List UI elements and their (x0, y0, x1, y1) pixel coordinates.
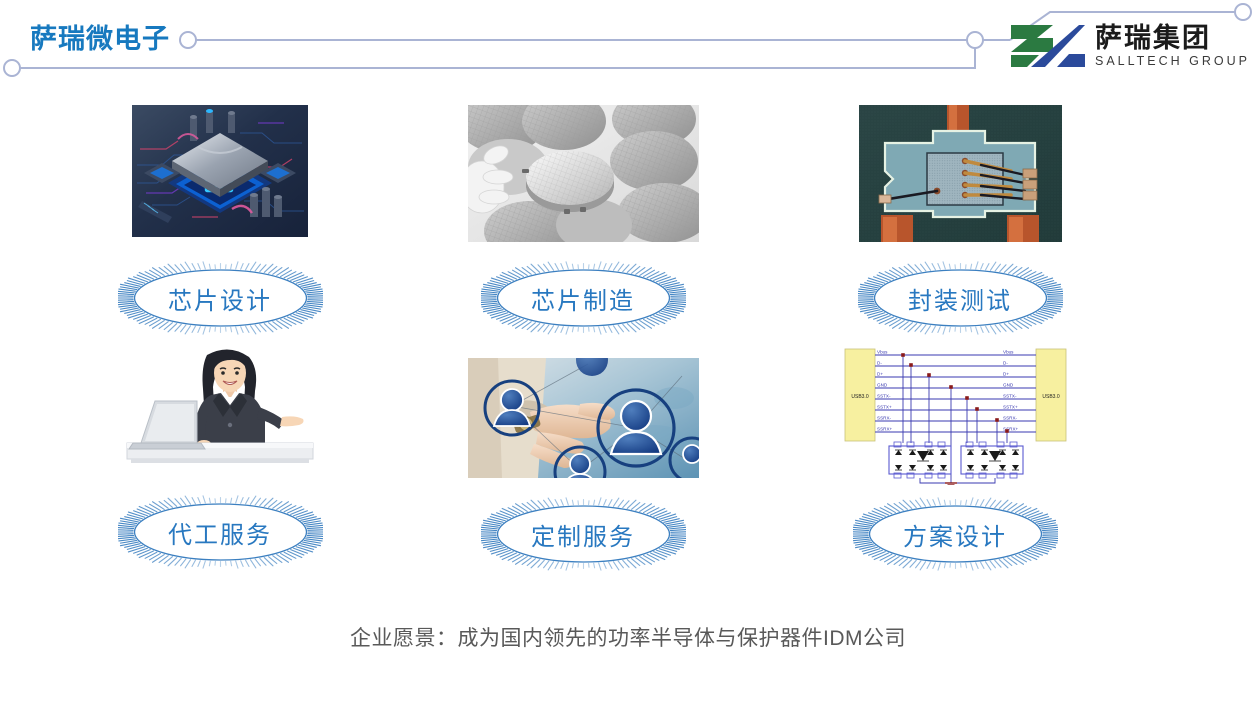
foundry-service-label: 代工服务 (118, 493, 323, 571)
businesswoman-with-laptop-illustration-icon (119, 343, 321, 467)
packaging-testing-image (859, 105, 1062, 242)
custom-service-label: 定制服务 (481, 495, 686, 573)
chip-design-image (132, 105, 308, 237)
chip-manufacturing-label-text: 芯片制造 (481, 259, 686, 337)
packaging-testing-label-text: 封装测试 (858, 259, 1063, 337)
svg-text:Vbus: Vbus (1003, 350, 1014, 355)
solution-design-label-text: 方案设计 (853, 495, 1058, 573)
page-title: 萨瑞微电子 (30, 17, 170, 56)
svg-text:D-: D- (877, 361, 882, 366)
grid-cell-chip-manufacturing: 芯片制造 (418, 105, 748, 337)
custom-service-image (468, 358, 699, 478)
svg-text:GND: GND (1003, 383, 1014, 388)
service-grid: 芯片设计 (0, 95, 1256, 595)
svg-text:GND: GND (877, 383, 888, 388)
hand-touching-network-people-photo-icon (468, 358, 699, 478)
grid-cell-foundry-service: 代工服务 (55, 343, 385, 571)
foundry-service-image (119, 343, 321, 467)
logo-text-block: 萨瑞集团 SALLTECH GROUP (1095, 25, 1250, 68)
logo-name-cn: 萨瑞集团 (1095, 25, 1250, 52)
svg-text:D-: D- (1003, 361, 1008, 366)
usb3-esd-protection-schematic-icon: USB3.0 USB3.0 VbusVbusD-D-D+D+GNDGNDSSTX… (837, 343, 1074, 485)
isometric-chip-illustration-icon (132, 105, 308, 237)
svg-text:SSTX+: SSTX+ (1003, 405, 1018, 410)
solution-design-image: USB3.0 USB3.0 VbusVbusD-D-D+D+GNDGNDSSTX… (837, 343, 1074, 485)
grid-cell-chip-design: 芯片设计 (55, 105, 385, 337)
vision-statement: 企业愿景：成为国内领先的功率半导体与保护器件IDM公司 (0, 622, 1256, 652)
salltech-logo-mark-icon (1009, 22, 1087, 70)
svg-text:SSRX-: SSRX- (877, 416, 892, 421)
chip-manufacturing-image (468, 105, 699, 242)
svg-text:USB3.0: USB3.0 (851, 394, 868, 400)
company-logo: 萨瑞集团 SALLTECH GROUP (1009, 15, 1241, 77)
svg-text:SSRX+: SSRX+ (877, 427, 893, 432)
packaging-testing-label: 封装测试 (858, 259, 1063, 337)
chip-manufacturing-label: 芯片制造 (481, 259, 686, 337)
foundry-service-label-text: 代工服务 (118, 493, 323, 571)
svg-text:SSTX-: SSTX- (1003, 394, 1017, 399)
grid-cell-custom-service: 定制服务 (418, 358, 748, 573)
svg-text:SSTX+: SSTX+ (877, 405, 892, 410)
custom-service-label-text: 定制服务 (481, 495, 686, 573)
chip-design-label-text: 芯片设计 (118, 259, 323, 337)
svg-text:D+: D+ (877, 372, 883, 377)
wire-bond-die-microscope-photo-icon (859, 105, 1062, 242)
silicon-wafer-photo-icon (468, 105, 699, 242)
svg-text:D+: D+ (1003, 372, 1009, 377)
page-header: 萨瑞微电子 萨瑞集团 SALLTECH GROUP (0, 0, 1256, 90)
grid-cell-packaging-testing: 封装测试 (795, 105, 1125, 337)
svg-text:SSRX-: SSRX- (1003, 416, 1018, 421)
svg-text:Vbus: Vbus (877, 350, 888, 355)
grid-cell-solution-design: USB3.0 USB3.0 VbusVbusD-D-D+D+GNDGNDSSTX… (790, 343, 1120, 573)
svg-text:SSTX-: SSTX- (877, 394, 891, 399)
logo-name-en: SALLTECH GROUP (1095, 55, 1250, 68)
chip-design-label: 芯片设计 (118, 259, 323, 337)
svg-text:USB3.0: USB3.0 (1042, 394, 1059, 400)
solution-design-label: 方案设计 (853, 495, 1058, 573)
